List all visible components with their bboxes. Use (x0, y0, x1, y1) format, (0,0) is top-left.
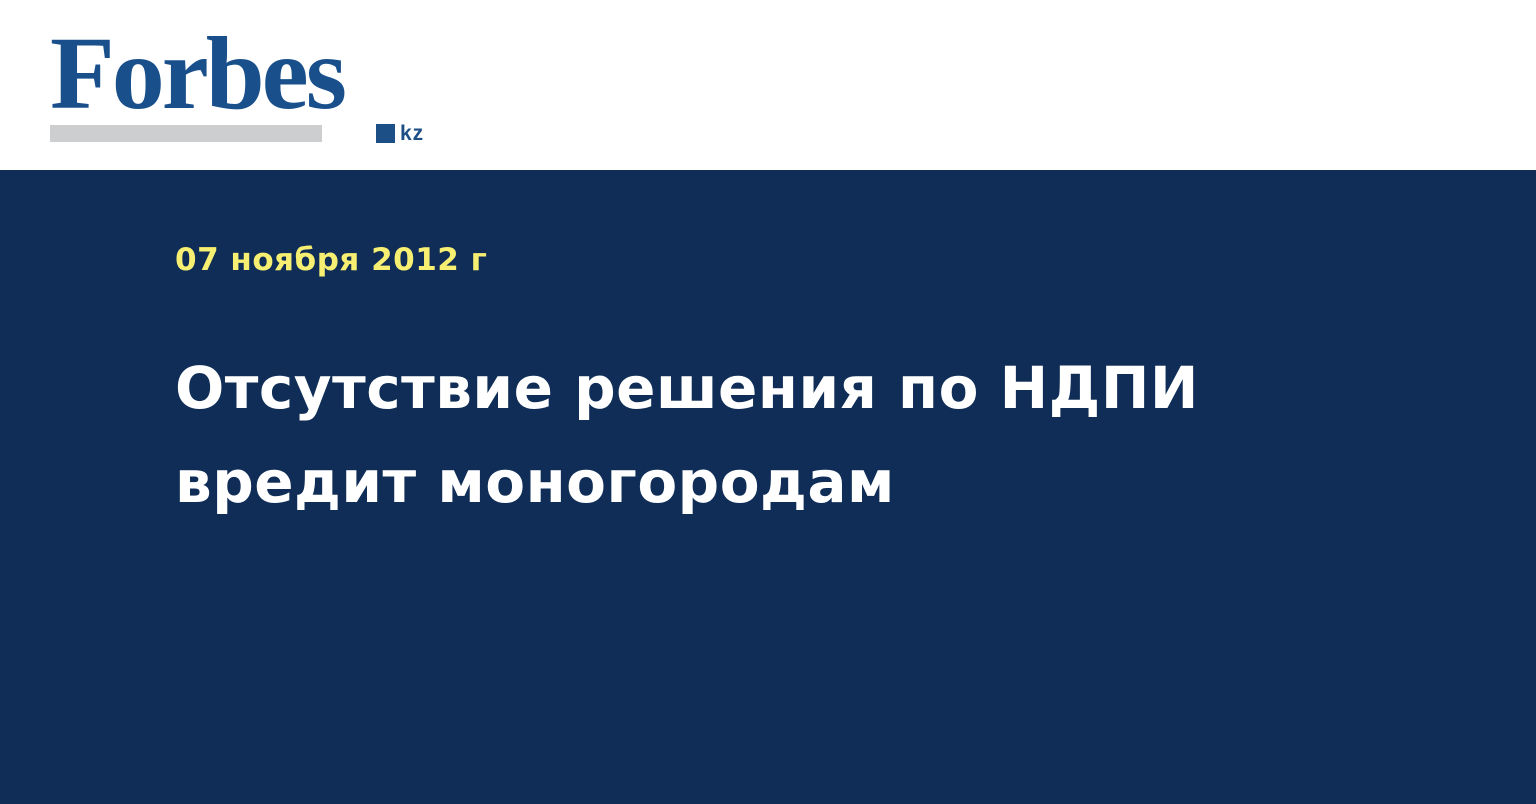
page-root: Forbes kz 07 ноября 2012 г Отсутствие ре… (0, 0, 1536, 804)
kz-square-icon (376, 124, 395, 143)
logo-rule-divider (50, 125, 322, 142)
logo-underrow: kz (50, 122, 408, 144)
forbes-kz-logo[interactable]: Forbes kz (50, 26, 410, 146)
article-title: Отсутствие решения по НДПИ вредит моного… (175, 342, 1235, 530)
brand-wordmark: Forbes (50, 26, 417, 122)
site-header: Forbes kz (0, 0, 1536, 170)
article-date: 07 ноября 2012 г (175, 245, 1396, 276)
article-hero-content: 07 ноября 2012 г Отсутствие решения по Н… (175, 245, 1396, 530)
brand-suffix-label: kz (400, 123, 424, 144)
article-hero: 07 ноября 2012 г Отсутствие решения по Н… (0, 170, 1536, 804)
